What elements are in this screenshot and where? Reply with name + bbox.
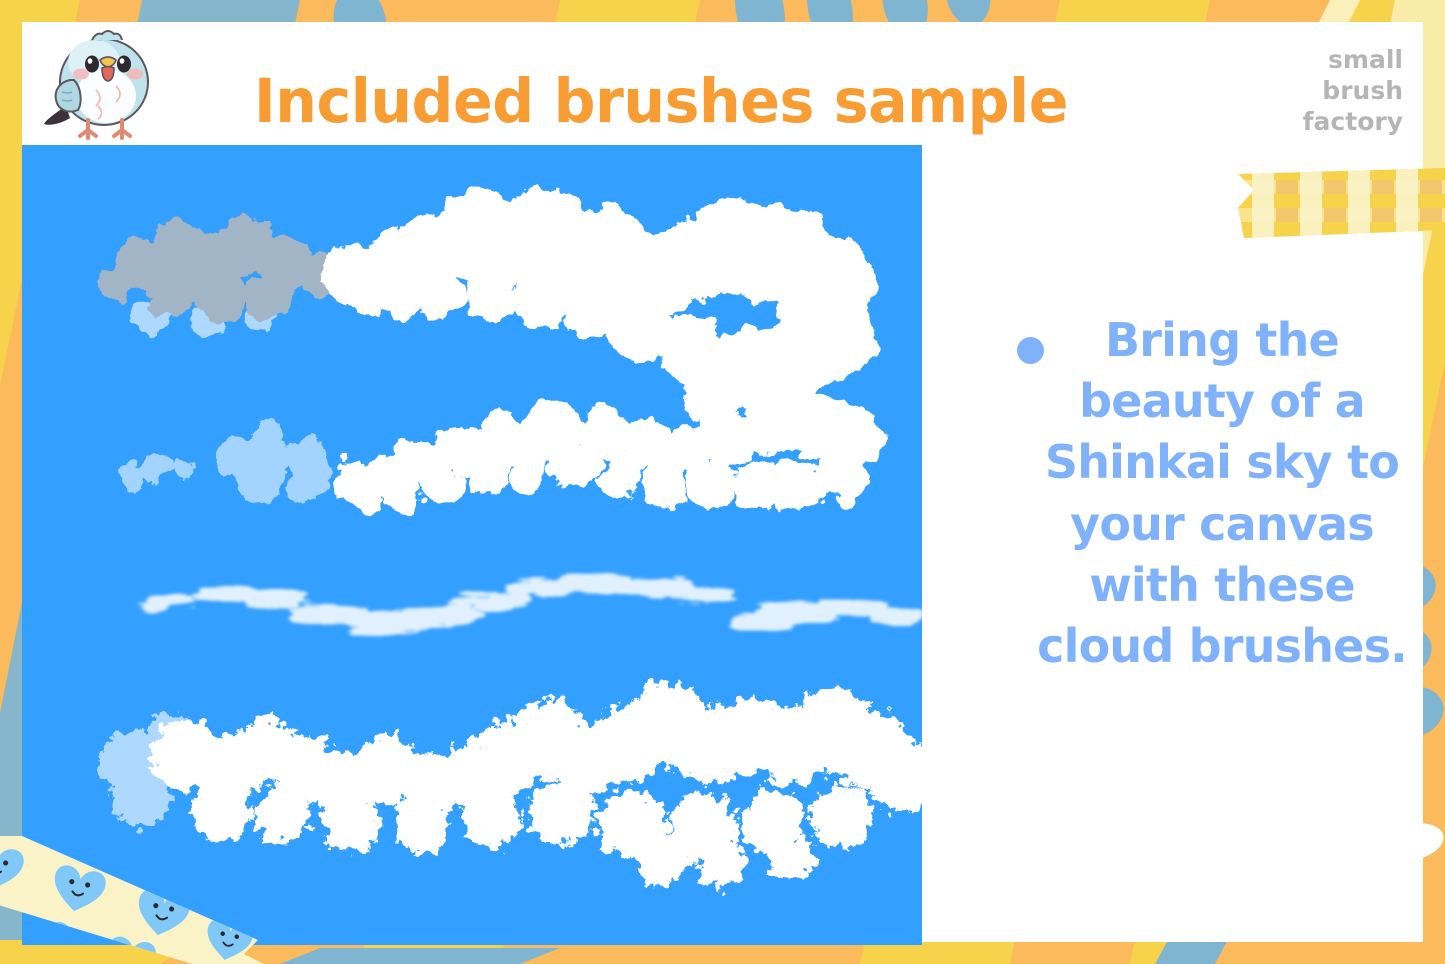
brand-line-3: factory — [1303, 106, 1403, 137]
bird-mascot-icon — [36, 20, 164, 148]
card-header: Included brushes sample small brush fact… — [22, 22, 1423, 145]
heart-washi-tape — [0, 836, 282, 964]
main-card: Included brushes sample small brush fact… — [22, 22, 1423, 942]
brand-logo: small brush factory — [1303, 44, 1403, 137]
copy-block: Bring the beauty of a Shinkai sky to you… — [922, 145, 1423, 945]
brush-sample-panel — [22, 145, 922, 945]
copy-text: Bring the beauty of a Shinkai sky to you… — [1032, 310, 1412, 677]
page-title: Included brushes sample — [254, 66, 1068, 137]
gingham-washi-tape — [1238, 168, 1445, 244]
brand-line-1: small — [1303, 44, 1403, 75]
brand-line-2: brush — [1303, 75, 1403, 106]
